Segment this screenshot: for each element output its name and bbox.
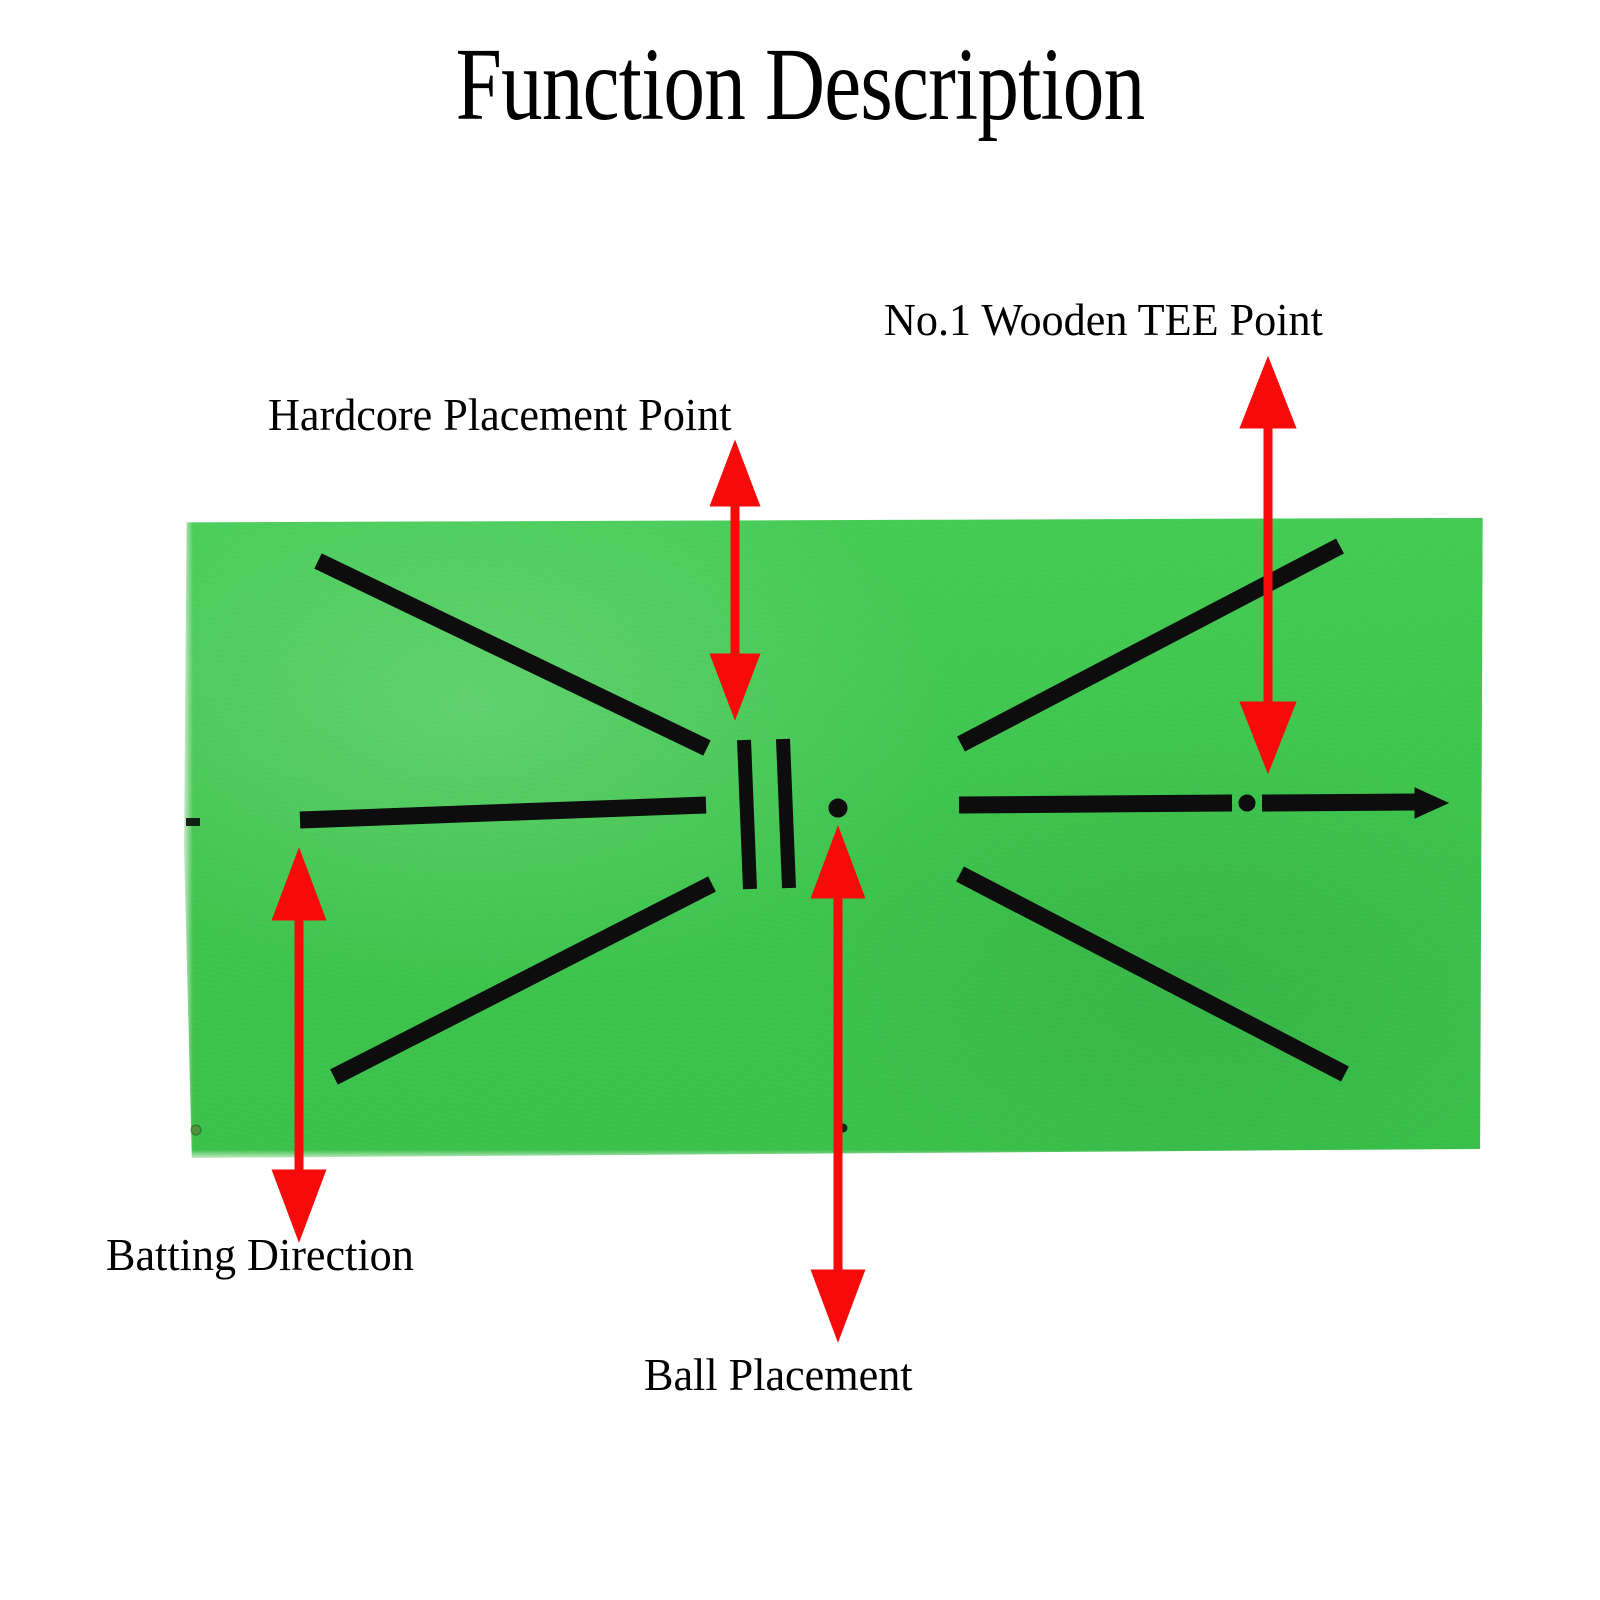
- label-hardcore-placement-point: Hardcore Placement Point: [268, 392, 732, 438]
- mat-bottom-edge: [184, 1150, 1484, 1158]
- green-mat-surface: [184, 512, 1484, 1158]
- mat-top-edge: [184, 512, 1484, 519]
- mat-left-edge: [184, 512, 193, 1158]
- label-batting-direction: Batting Direction: [106, 1232, 414, 1278]
- felt-texture-overlay: [184, 512, 1484, 1158]
- label-ball-placement: Ball Placement: [644, 1352, 913, 1398]
- label-no1-wooden-tee-point: No.1 Wooden TEE Point: [884, 297, 1323, 343]
